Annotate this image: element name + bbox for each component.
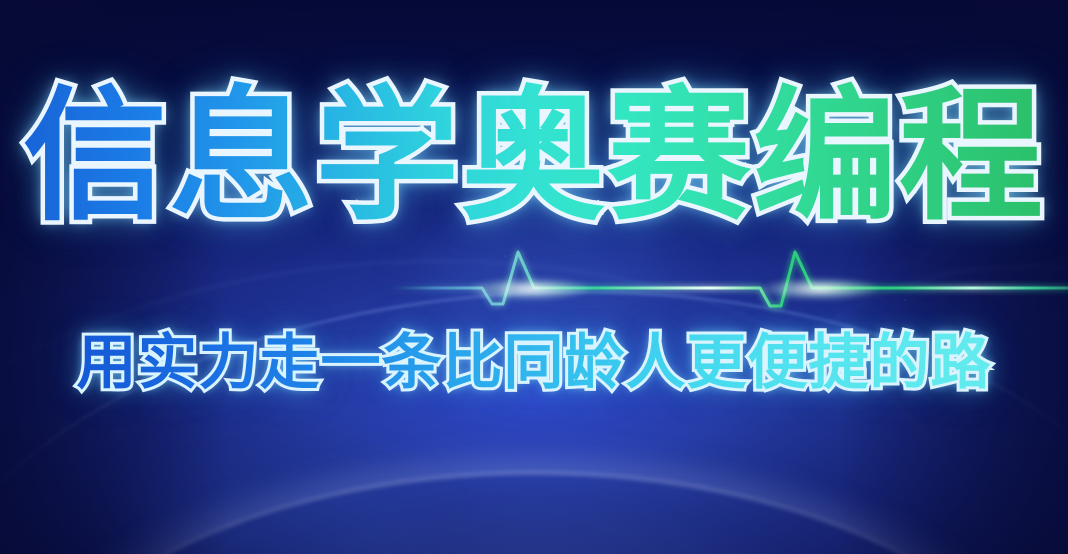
pulse-highlight-left (470, 278, 590, 300)
pulse-highlight-right (760, 278, 880, 300)
banner-title: 信息学奥赛编程 信息学奥赛编程 (23, 84, 1045, 228)
title-block: 信息学奥赛编程 信息学奥赛编程 (0, 84, 1068, 228)
banner-subtitle-text: 用实力走一条比同龄人更便捷的路 (77, 328, 992, 398)
banner-title-text: 信息学奥赛编程 (23, 72, 1045, 240)
heartbeat-ecg-line (0, 248, 1068, 334)
subtitle-block: 用实力走一条比同龄人更便捷的路 用实力走一条比同龄人更便捷的路 (0, 332, 1068, 395)
banner-subtitle: 用实力走一条比同龄人更便捷的路 用实力走一条比同龄人更便捷的路 (77, 332, 992, 395)
promo-banner: 信息学奥赛编程 信息学奥赛编程 用实力走一条比同龄人更便捷的路 用实力走一条比同… (0, 0, 1068, 554)
